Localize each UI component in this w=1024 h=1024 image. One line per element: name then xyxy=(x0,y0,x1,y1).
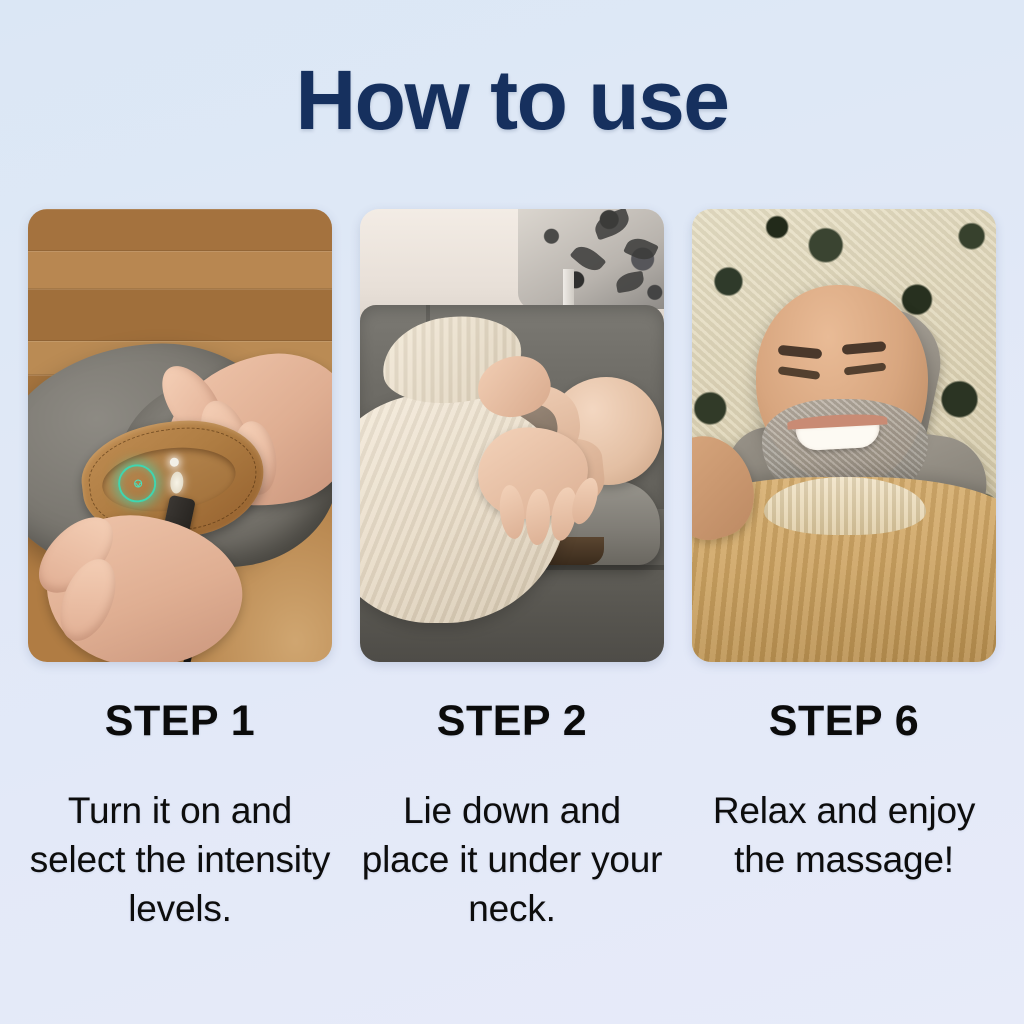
page-title: How to use xyxy=(0,58,1024,142)
step-6-caption: STEP 6 Relax and enjoy the massage! xyxy=(692,700,996,933)
step-2-caption: STEP 2 Lie down and place it under your … xyxy=(360,700,664,933)
step-2-description: Lie down and place it under your neck. xyxy=(360,787,664,933)
power-button-icon[interactable]: ⎉ xyxy=(116,462,158,504)
leaf-icon xyxy=(570,241,607,276)
step-1-label: STEP 1 xyxy=(28,700,332,743)
leaf-icon xyxy=(591,209,632,240)
step-2-label: STEP 2 xyxy=(360,700,664,743)
step-1-caption: STEP 1 Turn it on and select the intensi… xyxy=(28,700,332,933)
step-1-image-card: ⎉ xyxy=(28,209,332,662)
step-6-image-card xyxy=(692,209,996,662)
led-indicator-icon xyxy=(169,471,184,494)
step-2-image-card xyxy=(360,209,664,662)
led-indicator-icon xyxy=(169,457,179,467)
step-captions-row: STEP 1 Turn it on and select the intensi… xyxy=(28,700,996,933)
leaf-icon xyxy=(615,271,646,294)
step-6-label: STEP 6 xyxy=(692,700,996,743)
step-1-photo: ⎉ xyxy=(28,209,332,662)
step-2-photo xyxy=(360,209,664,662)
leaf-icon xyxy=(623,234,659,265)
step-1-description: Turn it on and select the intensity leve… xyxy=(28,787,332,933)
patterned-curtain xyxy=(518,209,664,309)
step-6-photo xyxy=(692,209,996,662)
step-6-description: Relax and enjoy the massage! xyxy=(692,787,996,885)
step-images-row: ⎉ xyxy=(28,209,996,662)
